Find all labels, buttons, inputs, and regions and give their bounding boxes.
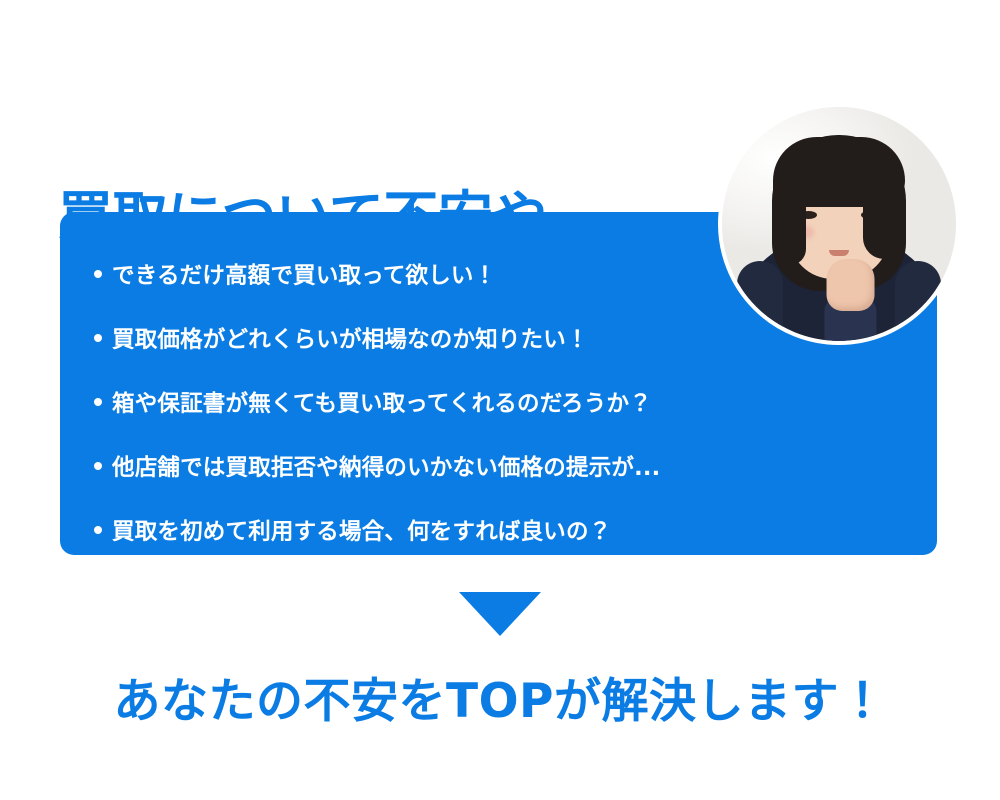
- portrait-fringe: [773, 137, 905, 207]
- arrow-container: [0, 592, 1000, 636]
- list-item-label: 買取価格がどれくらいが相場なのか知りたい！: [112, 322, 589, 354]
- bullet-dot-icon: [94, 526, 102, 534]
- avatar: [718, 103, 960, 345]
- bullet-dot-icon: [94, 462, 102, 470]
- list-item: 他店舗では買取拒否や納得のいかない価格の提示が...: [94, 434, 917, 498]
- promo-banner: 買取について不安や お悩みありませんか？ できるだけ高額で買い取って欲しい！ 買…: [0, 0, 1000, 800]
- list-item-label: 箱や保証書が無くても買い取ってくれるのだろうか？: [112, 386, 652, 418]
- bullet-dot-icon: [94, 270, 102, 278]
- bullet-dot-icon: [94, 398, 102, 406]
- list-item-label: できるだけ高額で買い取って欲しい！: [112, 258, 496, 290]
- portrait-mouth: [829, 250, 849, 256]
- list-item-label: 買取を初めて利用する場合、何をすれば良いの？: [112, 514, 611, 546]
- list-item-label: 他店舗では買取拒否や納得のいかない価格の提示が...: [112, 450, 660, 482]
- list-item: 箱や保証書が無くても買い取ってくれるのだろうか？: [94, 370, 917, 434]
- portrait-hand: [827, 259, 875, 311]
- list-item: 買取を初めて利用する場合、何をすれば良いの？: [94, 498, 917, 562]
- bullet-dot-icon: [94, 334, 102, 342]
- portrait-photo: [722, 107, 956, 341]
- triangle-down-icon: [459, 592, 541, 636]
- closing-headline: あなたの不安をTOPが解決します！: [0, 662, 1000, 731]
